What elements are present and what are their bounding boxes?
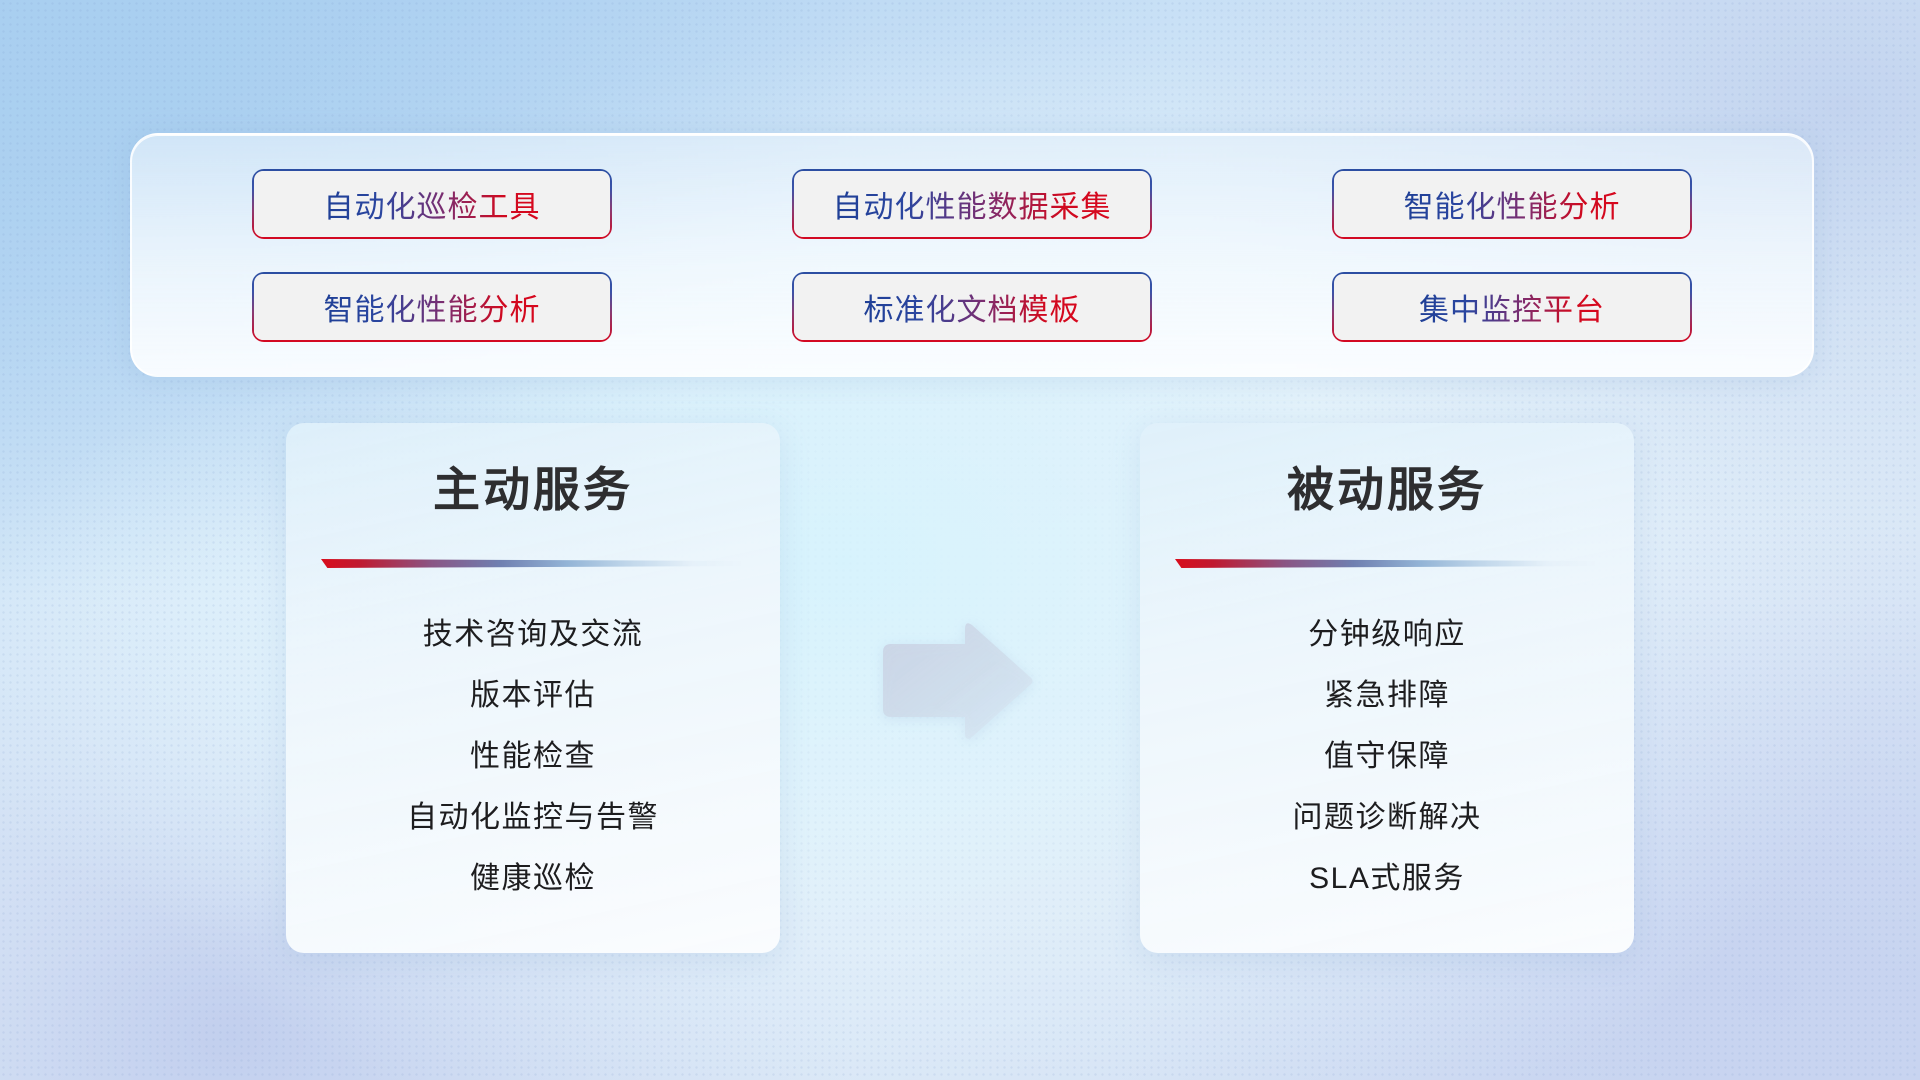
arrow-right-icon	[875, 618, 1035, 743]
list-item: 分钟级响应	[1308, 604, 1466, 665]
card-title: 被动服务	[1140, 451, 1634, 520]
card-divider-rule	[1175, 559, 1599, 568]
list-item: 自动化监控与告警	[407, 787, 659, 848]
capability-panel: 自动化巡检工具 自动化性能数据采集 智能化性能分析 智能化性能分析 标准化文档模…	[130, 133, 1814, 377]
capability-chip-standardized-document-template[interactable]: 标准化文档模板	[794, 274, 1150, 340]
chip-label: 智能化性能分析	[1404, 182, 1621, 226]
chip-label: 自动化巡检工具	[324, 182, 541, 226]
proactive-service-list: 技术咨询及交流 版本评估 性能检查 自动化监控与告警 健康巡检	[286, 604, 780, 909]
capability-chip-centralized-monitoring-platform[interactable]: 集中监控平台	[1334, 274, 1690, 340]
list-item: 紧急排障	[1324, 665, 1450, 726]
capability-chip-grid: 自动化巡检工具 自动化性能数据采集 智能化性能分析 智能化性能分析 标准化文档模…	[132, 135, 1812, 375]
card-divider-rule	[321, 559, 745, 568]
list-item: 技术咨询及交流	[423, 604, 644, 665]
capability-chip-automated-inspection-tool[interactable]: 自动化巡检工具	[254, 171, 610, 237]
list-item: 性能检查	[470, 726, 596, 787]
chip-label: 标准化文档模板	[864, 285, 1081, 329]
card-title: 主动服务	[286, 451, 780, 520]
chip-label: 自动化性能数据采集	[833, 182, 1112, 226]
capability-chip-automated-performance-data-collection[interactable]: 自动化性能数据采集	[794, 171, 1150, 237]
capability-chip-intelligent-performance-analysis-bottom[interactable]: 智能化性能分析	[254, 274, 610, 340]
list-item: SLA式服务	[1309, 848, 1465, 909]
chip-label: 智能化性能分析	[324, 285, 541, 329]
proactive-service-card: 主动服务 技术咨询及交流 版本评估 性能检查 自动化监控与告警 健康巡检	[286, 423, 780, 953]
list-item: 值守保障	[1324, 726, 1450, 787]
list-item: 问题诊断解决	[1293, 787, 1482, 848]
arrow-shape	[883, 623, 1033, 739]
list-item: 版本评估	[470, 665, 596, 726]
reactive-service-card: 被动服务 分钟级响应 紧急排障 值守保障 问题诊断解决 SLA式服务	[1140, 423, 1634, 953]
reactive-service-list: 分钟级响应 紧急排障 值守保障 问题诊断解决 SLA式服务	[1140, 604, 1634, 909]
list-item: 健康巡检	[470, 848, 596, 909]
chip-label: 集中监控平台	[1419, 285, 1605, 329]
capability-chip-intelligent-performance-analysis-top[interactable]: 智能化性能分析	[1334, 171, 1690, 237]
